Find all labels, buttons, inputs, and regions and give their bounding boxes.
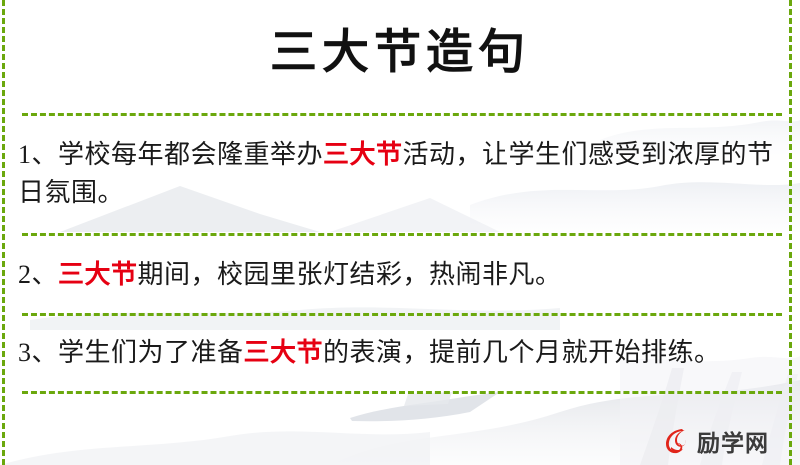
sentence-3-part-3: 的表演，提前几个月就开始排练。 [323,338,721,367]
site-logo: 励学网 [660,424,769,458]
sentence-1-keyword: 三大节 [323,140,403,169]
sentence-3-index: 3、 [18,338,58,367]
sentence-3-part-1: 学生们为了准备 [58,338,244,367]
sentence-item-3: 3、学生们为了准备三大节的表演，提前几个月就开始排练。 [18,334,784,372]
page-title: 三大节造句 [0,24,800,83]
sentence-3-keyword: 三大节 [244,338,324,367]
site-logo-text: 励学网 [697,424,769,458]
dashed-divider-3 [22,313,782,316]
dashed-divider-4 [22,391,782,394]
red-swirl-icon [660,425,692,457]
dashed-divider-2 [22,233,782,236]
sentence-item-1: 1、学校每年都会隆重举办三大节活动，让学生们感受到浓厚的节日氛围。 [18,136,784,212]
sentence-2-index: 2、 [18,260,58,289]
sentence-item-2: 2、三大节期间，校园里张灯结彩，热闹非凡。 [18,256,784,294]
sentence-2-keyword: 三大节 [58,260,138,289]
sentence-1-index: 1、 [18,140,58,169]
sentence-2-part-2: 期间，校园里张灯结彩，热闹非凡。 [138,260,562,289]
sentence-1-part-1: 学校每年都会隆重举办 [58,140,323,169]
dashed-divider-1 [22,113,782,116]
slide-canvas: 三大节造句 1、学校每年都会隆重举办三大节活动，让学生们感受到浓厚的节日氛围。 … [0,0,800,465]
